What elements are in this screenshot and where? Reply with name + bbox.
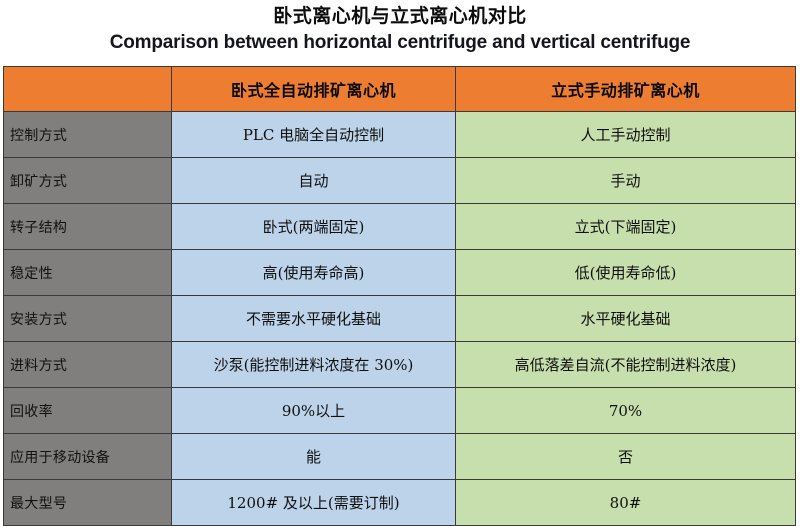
horizontal-centrifuge-cell: 高(使用寿命高) bbox=[172, 250, 456, 296]
header-cell-vertical: 立式手动排矿离心机 bbox=[456, 67, 796, 112]
table-row: 转子结构卧式(两端固定)立式(下端固定) bbox=[4, 204, 796, 250]
vertical-centrifuge-cell: 70% bbox=[456, 388, 796, 434]
comparison-table: 卧式全自动排矿离心机 立式手动排矿离心机 控制方式PLC 电脑全自动控制人工手动… bbox=[3, 66, 796, 526]
table-row: 卸矿方式自动手动 bbox=[4, 158, 796, 204]
vertical-centrifuge-cell: 人工手动控制 bbox=[456, 112, 796, 158]
table-body: 卧式全自动排矿离心机 立式手动排矿离心机 控制方式PLC 电脑全自动控制人工手动… bbox=[4, 67, 796, 526]
row-label-cell: 稳定性 bbox=[4, 250, 172, 296]
horizontal-centrifuge-cell: 90%以上 bbox=[172, 388, 456, 434]
table-row: 安装方式不需要水平硬化基础水平硬化基础 bbox=[4, 296, 796, 342]
vertical-centrifuge-cell: 低(使用寿命低) bbox=[456, 250, 796, 296]
page-title-chinese: 卧式离心机与立式离心机对比 bbox=[0, 3, 800, 29]
row-label-cell: 回收率 bbox=[4, 388, 172, 434]
header-cell-horizontal: 卧式全自动排矿离心机 bbox=[172, 67, 456, 112]
vertical-centrifuge-cell: 立式(下端固定) bbox=[456, 204, 796, 250]
page-title-english: Comparison between horizontal centrifuge… bbox=[0, 30, 800, 56]
horizontal-centrifuge-cell: 自动 bbox=[172, 158, 456, 204]
vertical-centrifuge-cell: 80# bbox=[456, 480, 796, 526]
horizontal-centrifuge-cell: 能 bbox=[172, 434, 456, 480]
header-cell-blank bbox=[4, 67, 172, 112]
table-row: 稳定性高(使用寿命高)低(使用寿命低) bbox=[4, 250, 796, 296]
row-label-cell: 应用于移动设备 bbox=[4, 434, 172, 480]
horizontal-centrifuge-cell: 不需要水平硬化基础 bbox=[172, 296, 456, 342]
row-label-cell: 安装方式 bbox=[4, 296, 172, 342]
horizontal-centrifuge-cell: 卧式(两端固定) bbox=[172, 204, 456, 250]
comparison-table-wrapper: 卧式全自动排矿离心机 立式手动排矿离心机 控制方式PLC 电脑全自动控制人工手动… bbox=[3, 66, 795, 526]
horizontal-centrifuge-cell: 沙泵(能控制进料浓度在 30%) bbox=[172, 342, 456, 388]
row-label-cell: 卸矿方式 bbox=[4, 158, 172, 204]
row-label-cell: 最大型号 bbox=[4, 480, 172, 526]
vertical-centrifuge-cell: 水平硬化基础 bbox=[456, 296, 796, 342]
vertical-centrifuge-cell: 高低落差自流(不能控制进料浓度) bbox=[456, 342, 796, 388]
table-row: 控制方式PLC 电脑全自动控制人工手动控制 bbox=[4, 112, 796, 158]
comparison-table-page: 卧式离心机与立式离心机对比 Comparison between horizon… bbox=[0, 0, 800, 526]
row-label-cell: 进料方式 bbox=[4, 342, 172, 388]
horizontal-centrifuge-cell: PLC 电脑全自动控制 bbox=[172, 112, 456, 158]
table-row: 最大型号1200# 及以上(需要订制)80# bbox=[4, 480, 796, 526]
table-row: 回收率90%以上70% bbox=[4, 388, 796, 434]
vertical-centrifuge-cell: 否 bbox=[456, 434, 796, 480]
table-header-row: 卧式全自动排矿离心机 立式手动排矿离心机 bbox=[4, 67, 796, 112]
row-label-cell: 转子结构 bbox=[4, 204, 172, 250]
title-block: 卧式离心机与立式离心机对比 Comparison between horizon… bbox=[0, 0, 800, 56]
row-label-cell: 控制方式 bbox=[4, 112, 172, 158]
horizontal-centrifuge-cell: 1200# 及以上(需要订制) bbox=[172, 480, 456, 526]
table-row: 进料方式沙泵(能控制进料浓度在 30%)高低落差自流(不能控制进料浓度) bbox=[4, 342, 796, 388]
vertical-centrifuge-cell: 手动 bbox=[456, 158, 796, 204]
table-row: 应用于移动设备能否 bbox=[4, 434, 796, 480]
